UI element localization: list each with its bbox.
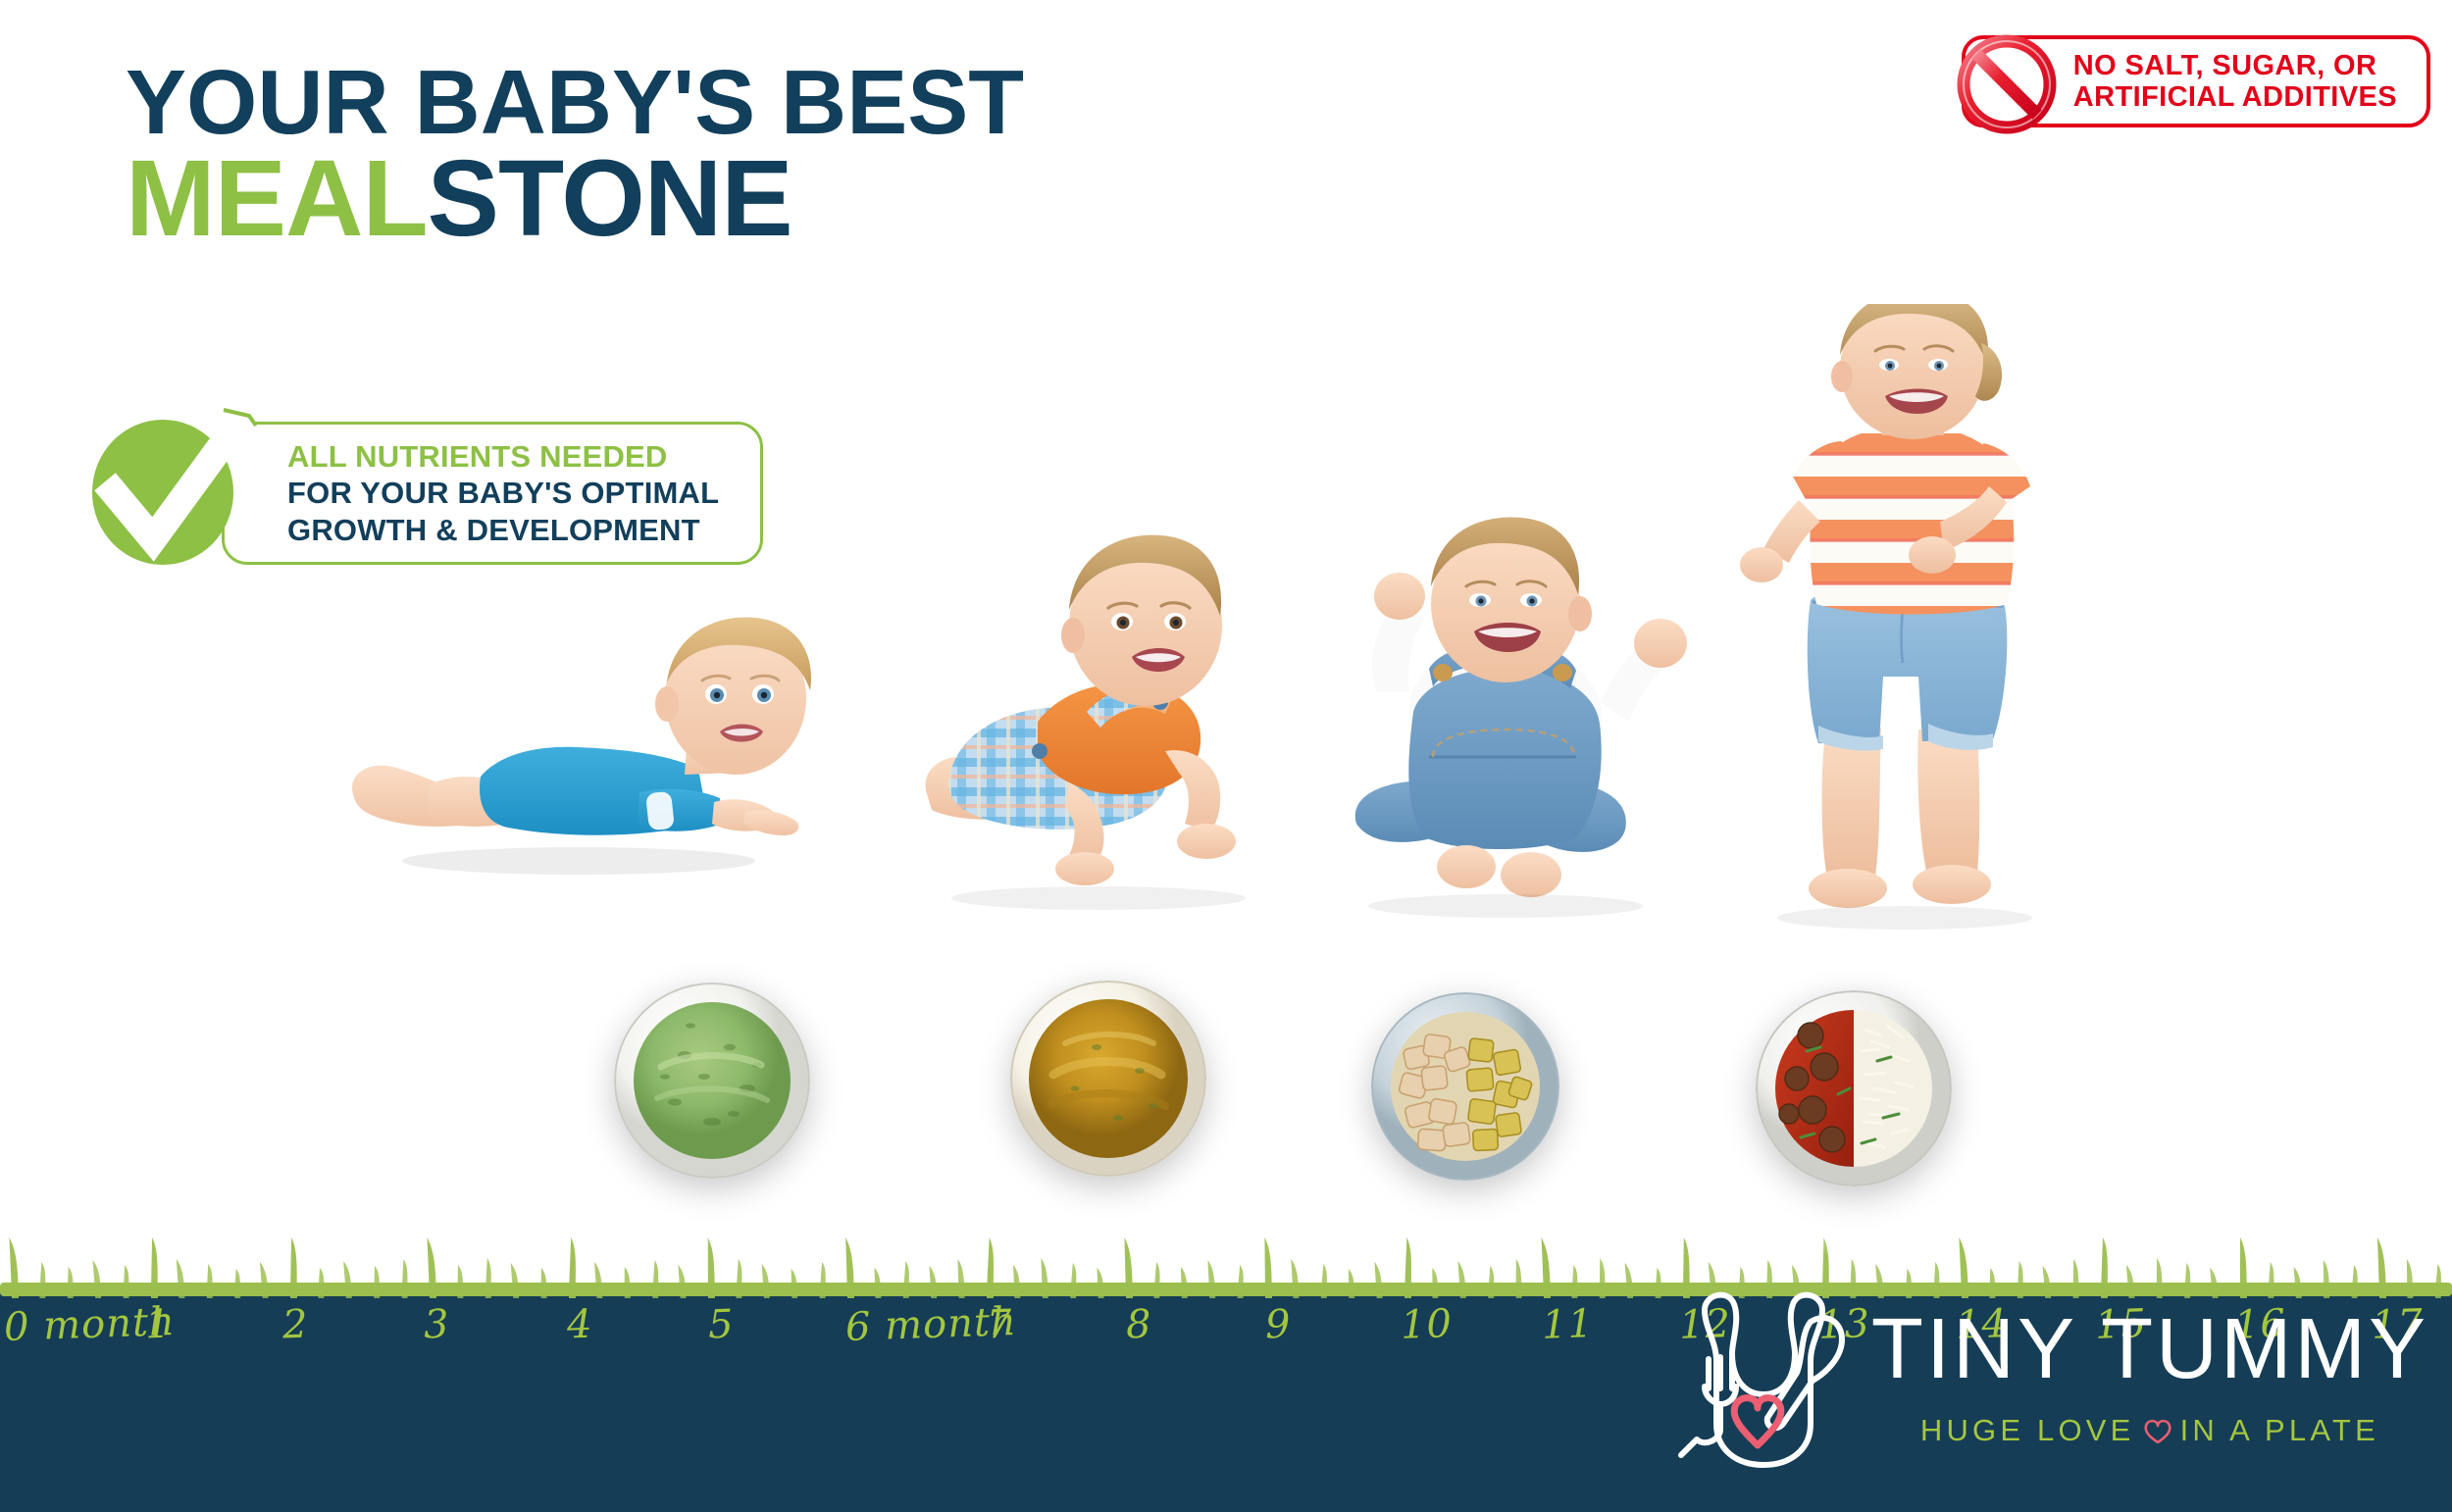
no-salt-line-1: NO SALT, SUGAR, OR — [2073, 50, 2397, 81]
nutrients-pill: ALL NUTRIENTS NEEDED FOR YOUR BABY'S OPT… — [222, 422, 763, 565]
logo-name: TINY TUMMY — [1871, 1306, 2428, 1391]
heart-icon — [2144, 1418, 2171, 1443]
nutrients-badge: ALL NUTRIENTS NEEDED FOR YOUR BABY'S OPT… — [77, 390, 763, 577]
month-label-10: 10 — [1400, 1301, 1453, 1348]
month-label-3: 3 — [423, 1302, 450, 1348]
logo-tagline-after: IN A PLATE — [2180, 1413, 2379, 1448]
nutrients-line-1: ALL NUTRIENTS NEEDED — [287, 438, 737, 475]
month-label-8: 8 — [1125, 1302, 1152, 1348]
month-label-11: 11 — [1541, 1301, 1594, 1348]
bowl-green-puree — [614, 983, 810, 1179]
headline-line-1: YOUR BABY'S BEST — [126, 61, 1024, 145]
baby-crawling — [912, 520, 1304, 912]
month-label-9: 9 — [1264, 1302, 1292, 1348]
headline-word-meal: MEAL — [126, 138, 428, 259]
nutrients-line-3: GROWTH & DEVELOPMENT — [287, 512, 737, 548]
month-label-2: 2 — [281, 1302, 309, 1348]
headline-line-2: MEALSTONE — [126, 149, 1024, 248]
headline-word-stone: STONE — [428, 138, 792, 259]
month-label-7: 7 — [986, 1302, 1013, 1348]
brand-logo[interactable]: TINY TUMMY HUGE LOVE IN A PLATE — [1663, 1277, 2428, 1477]
no-salt-line-2: ARTIFICIAL ADDITIVES — [2073, 81, 2397, 113]
no-salt-badge: NO SALT, SUGAR, OR ARTIFICIAL ADDITIVES — [1962, 35, 2430, 127]
no-salt-pill: NO SALT, SUGAR, OR ARTIFICIAL ADDITIVES — [1962, 35, 2430, 127]
logo-tagline-before: HUGE LOVE — [1920, 1413, 2135, 1448]
baby-bib-with-fork-spoon-and-heart-icon — [1663, 1277, 1856, 1477]
baby-sitting — [1319, 510, 1702, 932]
bowl-lentil-puree — [1010, 981, 1206, 1177]
logo-text-block: TINY TUMMY HUGE LOVE IN A PLATE — [1871, 1306, 2428, 1448]
poster-canvas: YOUR BABY'S BEST MEALSTONE NO SALT, SUGA… — [0, 0, 2452, 1512]
logo-tagline: HUGE LOVE IN A PLATE — [1871, 1413, 2428, 1448]
green-check-icon — [77, 390, 302, 577]
baby-lying-tummy — [324, 600, 873, 884]
month-label-4: 4 — [566, 1302, 593, 1348]
month-label-1: 1 — [144, 1302, 172, 1348]
month-label-5: 5 — [707, 1302, 735, 1348]
toddler-standing — [1736, 304, 2089, 951]
nutrients-line-2: FOR YOUR BABY'S OPTIMAL — [287, 475, 737, 511]
bowl-chicken-veg — [1371, 992, 1559, 1181]
page-title: YOUR BABY'S BEST MEALSTONE — [126, 61, 1024, 248]
prohibition-sign-icon — [1952, 29, 2062, 139]
bowl-meatballs-rice — [1756, 990, 1952, 1186]
